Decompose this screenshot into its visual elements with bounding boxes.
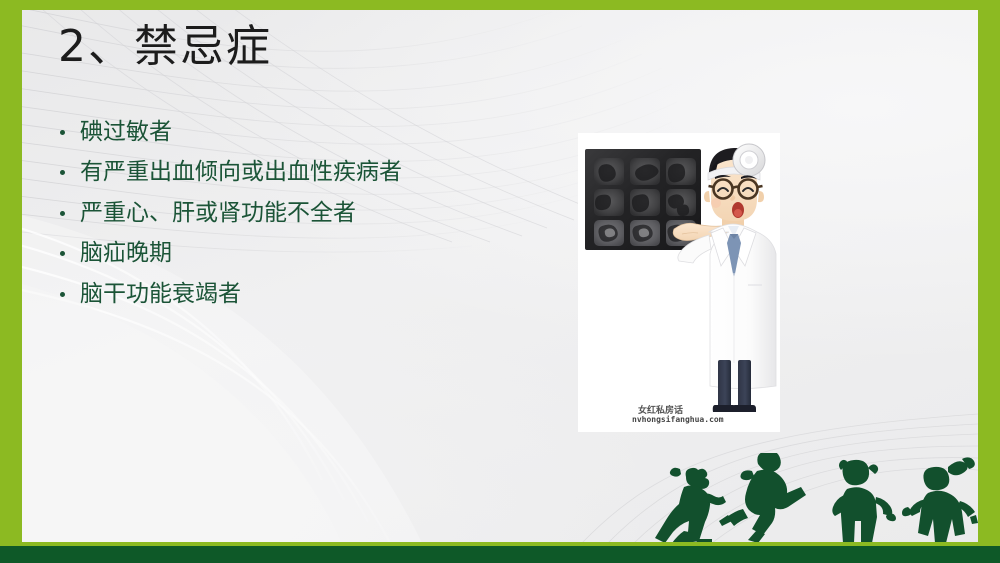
doctor-xray-image: 女红私房话 nvhongsifanghua.com — [578, 133, 780, 432]
kid-silhouette-3 — [832, 460, 896, 543]
svg-text:nvhongsifanghua.com: nvhongsifanghua.com — [632, 414, 724, 424]
list-item: 脑干功能衰竭者 — [56, 280, 526, 309]
kids-silhouettes — [640, 453, 978, 543]
kid-silhouette-2 — [719, 453, 806, 543]
frame-left-border — [0, 0, 22, 563]
contraindication-list: 碘过敏者 有严重出血倾向或出血性疾病者 严重心、肝或肾功能不全者 脑疝晚期 脑干… — [56, 118, 526, 320]
frame-top-border — [0, 0, 1000, 10]
page-title: 2、禁忌症 — [58, 22, 272, 73]
list-item: 碘过敏者 — [56, 118, 526, 147]
head-mirror-icon — [733, 144, 765, 176]
doctor-illustration: 女红私房话 nvhongsifanghua.com — [578, 133, 780, 432]
list-item: 脑疝晚期 — [56, 239, 526, 268]
kid-silhouette-1 — [655, 468, 726, 543]
list-item: 有严重出血倾向或出血性疾病者 — [56, 158, 526, 187]
footer-dark-band — [0, 546, 1000, 563]
frame-right-border — [978, 0, 1000, 563]
slide-root: 2、禁忌症 碘过敏者 有严重出血倾向或出血性疾病者 严重心、肝或肾功能不全者 脑… — [0, 0, 1000, 563]
list-item: 严重心、肝或肾功能不全者 — [56, 199, 526, 228]
slide-canvas: 2、禁忌症 碘过敏者 有严重出血倾向或出血性疾病者 严重心、肝或肾功能不全者 脑… — [22, 10, 978, 543]
kid-silhouette-4 — [902, 457, 978, 543]
